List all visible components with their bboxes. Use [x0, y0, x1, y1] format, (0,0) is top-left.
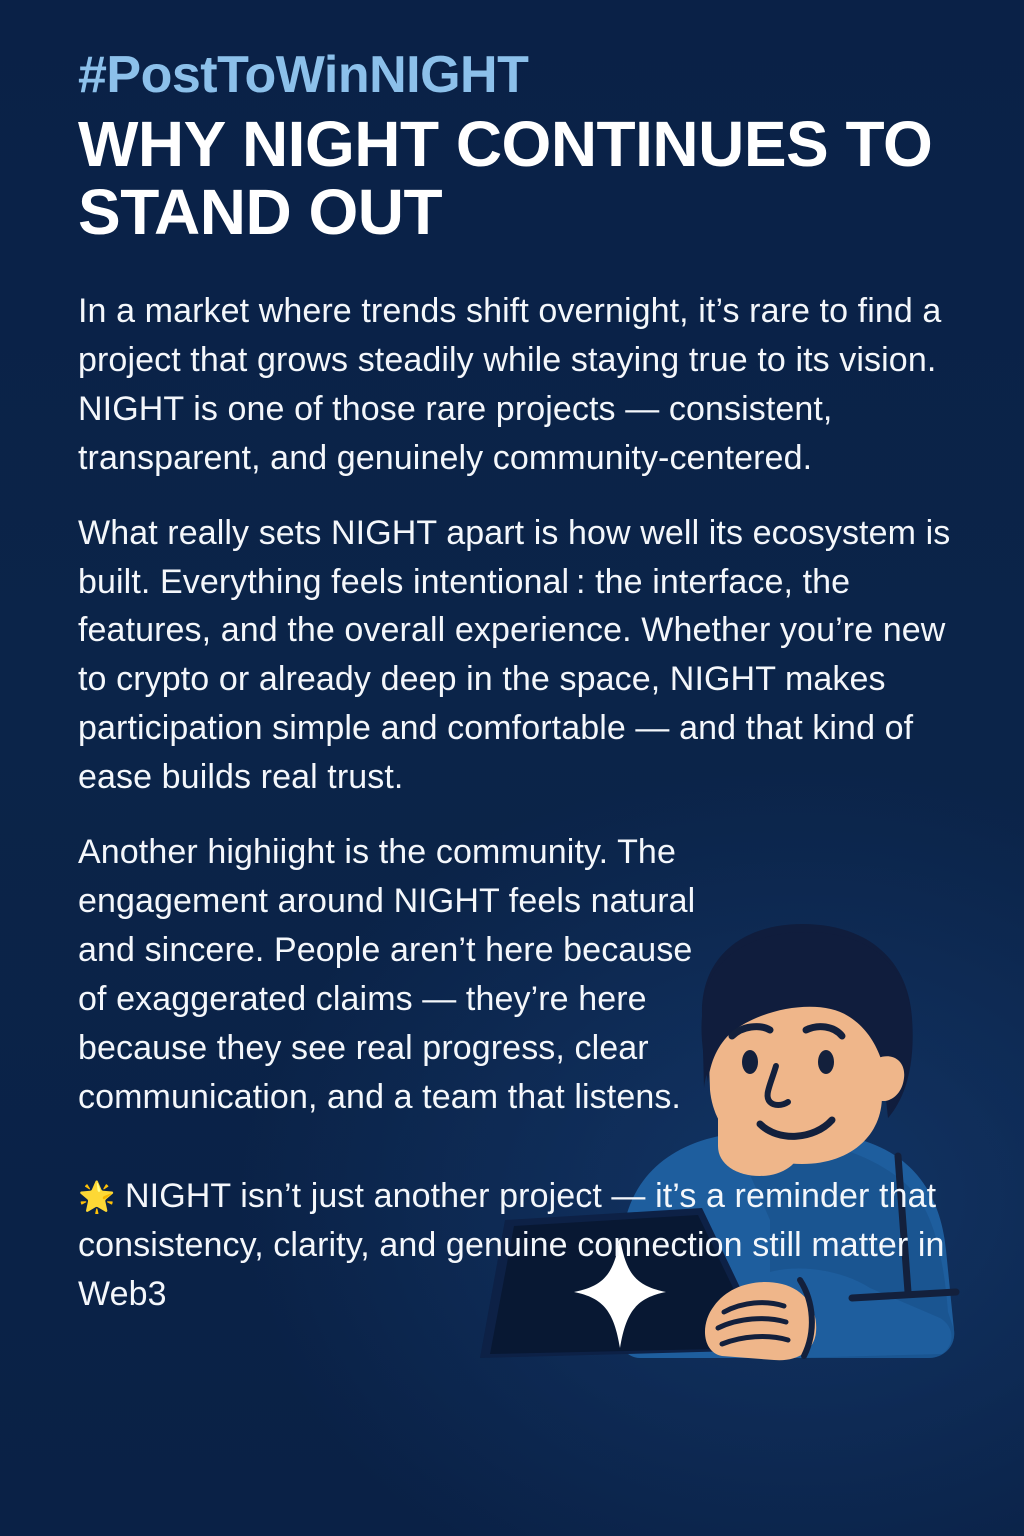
- body-paragraph-2: What really sets NIGHT apart is how well…: [78, 509, 952, 803]
- body-paragraph-1: In a market where trends shift overnight…: [78, 287, 952, 483]
- page-title: WHY NIGHT CONTINUES TO STAND OUT: [78, 111, 952, 247]
- poster-canvas: #PostToWinNIGHT WHY NIGHT CONTINUES TO S…: [0, 0, 1024, 1536]
- body-paragraph-3: Another highiight is the community. The …: [78, 828, 698, 1122]
- campaign-hashtag: #PostToWinNIGHT: [78, 48, 952, 103]
- poster-content: #PostToWinNIGHT WHY NIGHT CONTINUES TO S…: [0, 0, 1024, 1319]
- glowing-star-icon: 🌟: [78, 1181, 115, 1214]
- closing-statement-text: NIGHT isn’t just another project — it’s …: [78, 1177, 945, 1313]
- closing-statement: 🌟 NIGHT isn’t just another project — it’…: [78, 1172, 952, 1319]
